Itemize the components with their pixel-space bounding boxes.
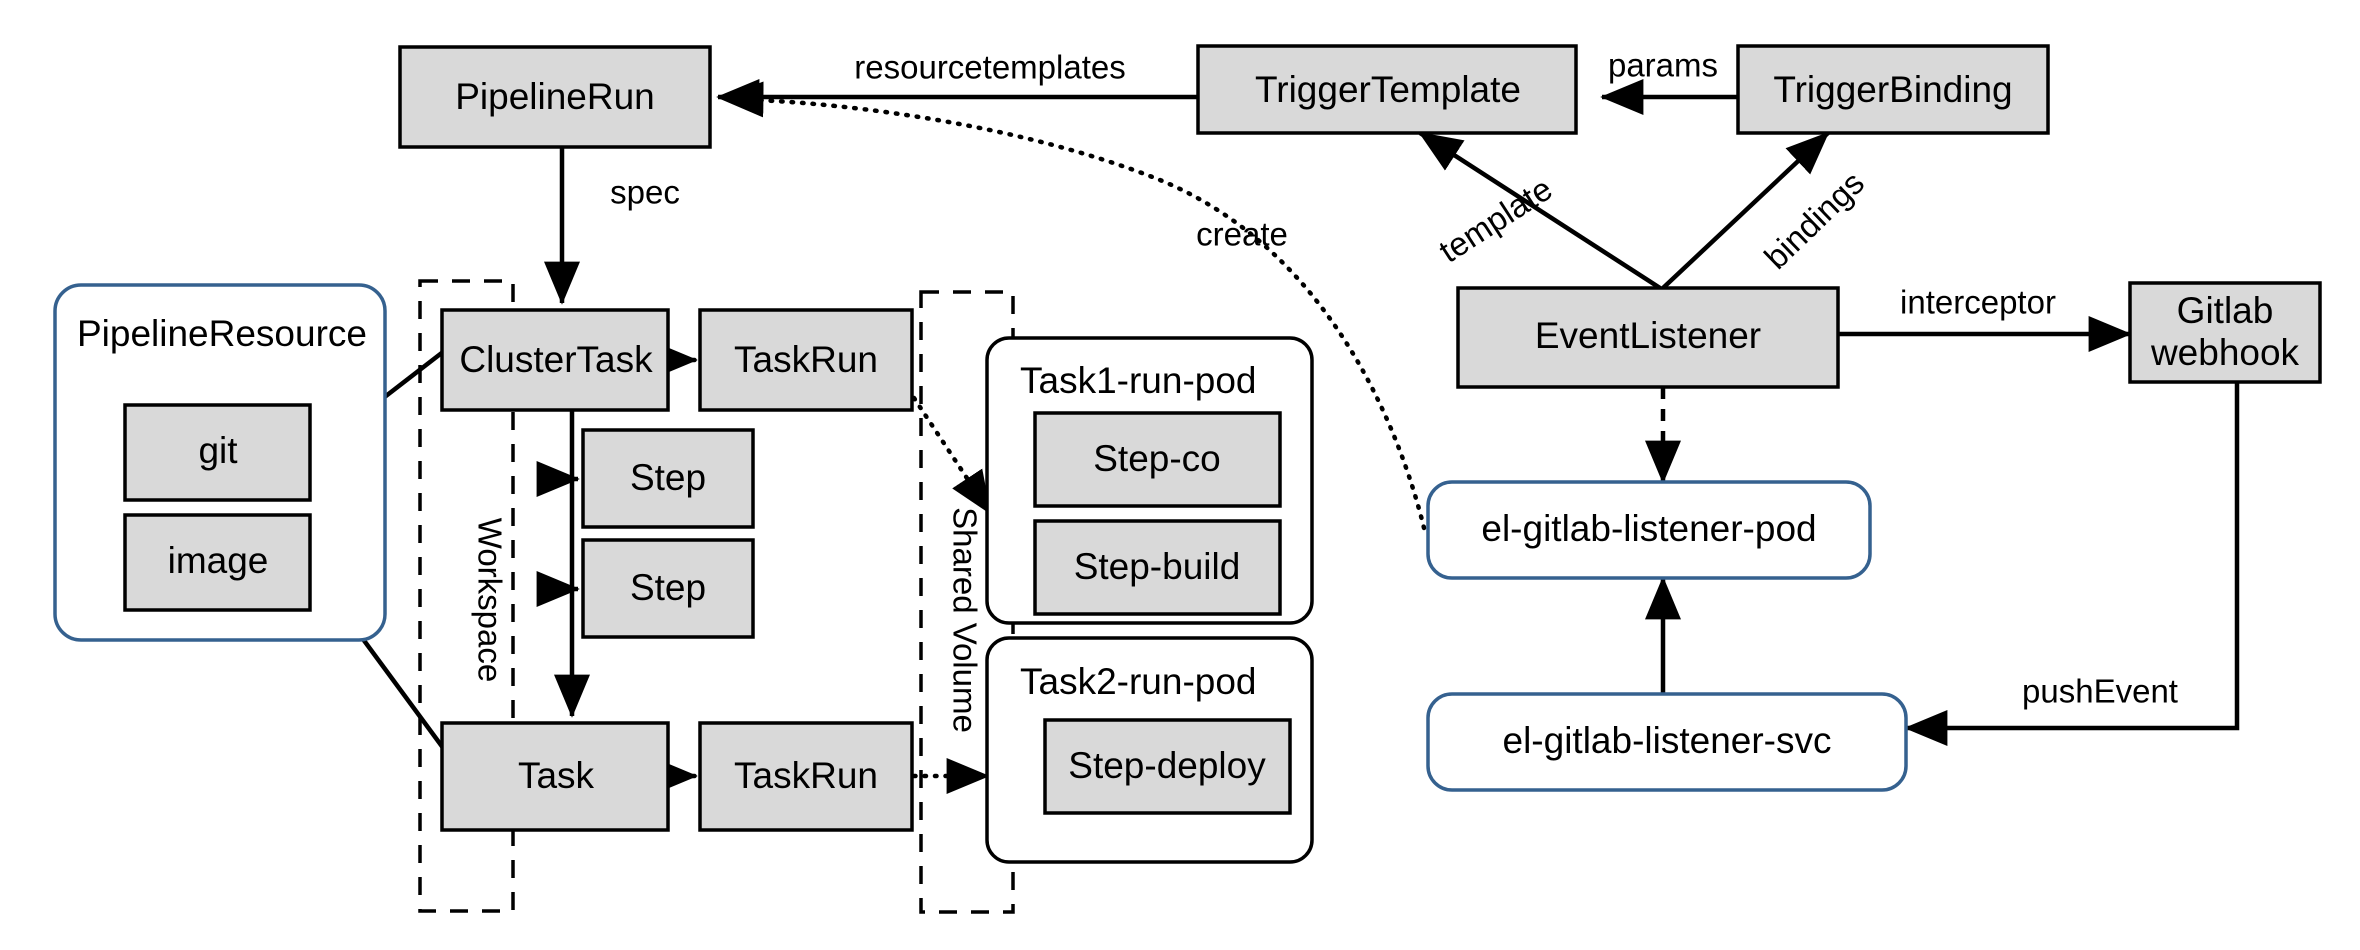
edge-label-create: create [1196, 216, 1288, 253]
node-step-build-label: Step-build [1074, 546, 1241, 587]
node-triggertemplate[interactable]: TriggerTemplate [1198, 46, 1576, 133]
architecture-diagram: Workspace Shared Volume [0, 0, 2360, 950]
node-git-label: git [198, 430, 238, 471]
node-gitlab-webhook-line1: Gitlab [2177, 290, 2274, 331]
edge-label-resourcetemplates: resourcetemplates [854, 49, 1125, 86]
node-triggerbinding[interactable]: TriggerBinding [1738, 46, 2048, 133]
node-triggerbinding-label: TriggerBinding [1773, 69, 2012, 110]
node-step-co-label: Step-co [1093, 438, 1221, 479]
node-task2-run-pod-label: Task2-run-pod [1020, 661, 1257, 702]
node-el-gitlab-listener-pod-label: el-gitlab-listener-pod [1481, 508, 1816, 549]
node-triggertemplate-label: TriggerTemplate [1255, 69, 1521, 110]
edge-label-params: params [1608, 47, 1718, 84]
node-taskrun-bottom[interactable]: TaskRun [700, 723, 912, 830]
workspace-label: Workspace [471, 518, 508, 682]
node-taskrun-bottom-label: TaskRun [734, 755, 878, 796]
shared-volume-label: Shared Volume [946, 507, 983, 733]
node-step-deploy-label: Step-deploy [1068, 745, 1266, 786]
edge-label-interceptor: interceptor [1900, 284, 2056, 321]
node-task-label: Task [518, 755, 595, 796]
node-git[interactable]: git [125, 405, 310, 500]
node-task1-run-pod[interactable]: Task1-run-pod Step-co Step-build [987, 338, 1312, 623]
node-task2-run-pod[interactable]: Task2-run-pod Step-deploy [987, 638, 1312, 862]
edge-label-spec: spec [610, 174, 680, 211]
node-pipelineresource-label: PipelineResource [77, 313, 367, 354]
node-image[interactable]: image [125, 515, 310, 610]
node-step-one[interactable]: Step [583, 430, 753, 527]
node-gitlab-webhook[interactable]: Gitlab webhook [2130, 283, 2320, 382]
node-step-one-label: Step [630, 457, 706, 498]
node-task[interactable]: Task [442, 723, 668, 830]
node-taskrun-top[interactable]: TaskRun [700, 310, 912, 410]
node-pipelinerun[interactable]: PipelineRun [400, 47, 710, 147]
node-clustertask[interactable]: ClusterTask [442, 310, 668, 410]
node-task1-run-pod-label: Task1-run-pod [1020, 360, 1257, 401]
diagram-canvas: Workspace Shared Volume [0, 0, 2360, 950]
node-step-build[interactable]: Step-build [1035, 521, 1280, 614]
node-step-co[interactable]: Step-co [1035, 413, 1280, 506]
node-step-deploy[interactable]: Step-deploy [1045, 720, 1290, 813]
node-eventlistener-label: EventListener [1535, 315, 1761, 356]
node-clustertask-label: ClusterTask [459, 339, 653, 380]
node-step-two-label: Step [630, 567, 706, 608]
node-el-gitlab-listener-svc[interactable]: el-gitlab-listener-svc [1428, 694, 1906, 790]
node-pipelinerun-label: PipelineRun [455, 76, 655, 117]
node-el-gitlab-listener-pod[interactable]: el-gitlab-listener-pod [1428, 482, 1870, 578]
node-el-gitlab-listener-svc-label: el-gitlab-listener-svc [1503, 720, 1832, 761]
node-gitlab-webhook-line2: webhook [2150, 332, 2300, 373]
edge-label-pushevent: pushEvent [2022, 673, 2178, 710]
node-image-label: image [168, 540, 269, 581]
edge-taskrun-to-task1pod [914, 398, 990, 513]
node-step-two[interactable]: Step [583, 540, 753, 637]
edge-label-template: template [1432, 170, 1558, 270]
node-eventlistener[interactable]: EventListener [1458, 288, 1838, 387]
node-taskrun-top-label: TaskRun [734, 339, 878, 380]
